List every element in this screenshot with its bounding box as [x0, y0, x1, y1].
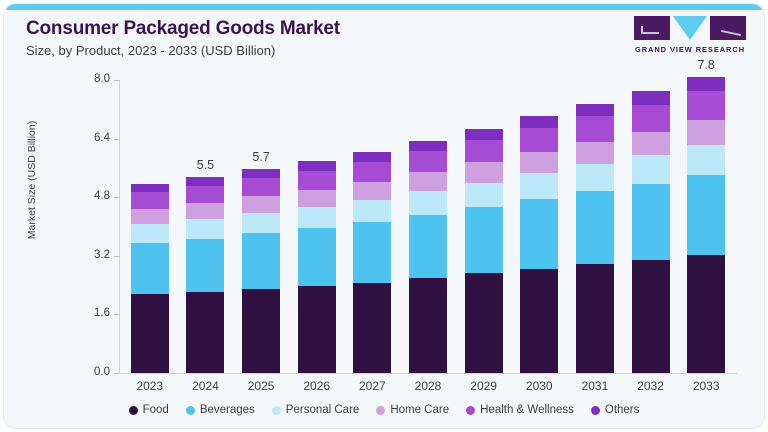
legend-item[interactable]: Personal Care [272, 404, 360, 416]
bar-column[interactable] [576, 104, 614, 374]
x-axis-tick-label: 2024 [175, 379, 235, 393]
x-axis-line [119, 373, 737, 374]
chart-card: Consumer Packaged Goods Market Size, by … [4, 4, 764, 428]
legend-item[interactable]: Food [129, 404, 169, 416]
bar-segment[interactable] [409, 151, 447, 172]
y-axis-tick-label: 3.2 [66, 249, 110, 261]
legend-swatch-icon [376, 406, 385, 415]
bar-segment[interactable] [687, 145, 725, 175]
bar-segment[interactable] [186, 177, 224, 185]
bar-segment[interactable] [409, 278, 447, 373]
bar-segment[interactable] [353, 200, 391, 222]
x-axis-tick-label: 2029 [454, 379, 514, 393]
bar-segment[interactable] [687, 120, 725, 145]
legend-label: Home Care [390, 404, 449, 416]
legend-swatch-icon [186, 406, 195, 415]
chart-legend: FoodBeveragesPersonal CareHome CareHealt… [4, 404, 764, 416]
bar-segment[interactable] [632, 132, 670, 155]
bar-segment[interactable] [465, 162, 503, 182]
bar-segment[interactable] [242, 289, 280, 373]
legend-item[interactable]: Beverages [186, 404, 255, 416]
bar-segment[interactable] [465, 183, 503, 208]
bar-segment[interactable] [242, 178, 280, 196]
y-axis-tick-label: 8.0 [66, 73, 110, 85]
bar-segment[interactable] [242, 213, 280, 234]
y-axis-tick-label: 1.6 [66, 307, 110, 319]
bar-segment[interactable] [131, 184, 169, 192]
bar-segment[interactable] [632, 91, 670, 105]
bar-segment[interactable] [687, 91, 725, 120]
bar-segment[interactable] [465, 129, 503, 140]
bar-segment[interactable] [298, 228, 336, 286]
bar-segment[interactable] [687, 255, 725, 373]
bar-segment[interactable] [298, 161, 336, 170]
x-axis-tick-label: 2028 [398, 379, 458, 393]
bar-segment[interactable] [465, 207, 503, 273]
x-axis-tick-label: 2031 [565, 379, 625, 393]
bar-segment[interactable] [632, 184, 670, 261]
bar-segment[interactable] [242, 196, 280, 213]
bar-segment[interactable] [131, 294, 169, 373]
bar-segment[interactable] [186, 239, 224, 292]
bar-value-label: 7.8 [676, 58, 736, 72]
legend-swatch-icon [129, 406, 138, 415]
bar-segment[interactable] [186, 292, 224, 373]
bar-segment[interactable] [632, 155, 670, 184]
x-axis-tick-label: 2030 [509, 379, 569, 393]
legend-item[interactable]: Health & Wellness [466, 404, 574, 416]
bar-segment[interactable] [131, 209, 169, 224]
bar-column[interactable] [520, 116, 558, 373]
bar-value-label: 5.5 [175, 158, 235, 172]
bar-segment[interactable] [520, 128, 558, 152]
bar-segment[interactable] [409, 141, 447, 151]
x-axis-tick-label: 2033 [676, 379, 736, 393]
legend-swatch-icon [591, 406, 600, 415]
bar-segment[interactable] [520, 173, 558, 199]
bar-segment[interactable] [242, 233, 280, 288]
bar-segment[interactable] [353, 222, 391, 282]
bar-segment[interactable] [576, 116, 614, 142]
legend-label: Beverages [200, 404, 255, 416]
y-axis-tick-label: 6.4 [66, 132, 110, 144]
bar-series-group [122, 80, 734, 373]
bar-segment[interactable] [353, 152, 391, 162]
legend-label: Food [143, 404, 169, 416]
bar-segment[interactable] [186, 219, 224, 239]
bar-segment[interactable] [687, 175, 725, 255]
bar-segment[interactable] [520, 152, 558, 173]
bar-segment[interactable] [576, 264, 614, 373]
bar-segment[interactable] [298, 171, 336, 190]
bar-segment[interactable] [298, 286, 336, 373]
bar-segment[interactable] [186, 186, 224, 203]
bar-segment[interactable] [353, 162, 391, 182]
bar-column[interactable] [298, 161, 336, 373]
y-axis-label: Market Size (USD Billion) [26, 60, 38, 300]
bar-column[interactable] [465, 129, 503, 373]
bar-segment[interactable] [632, 105, 670, 132]
legend-label: Personal Care [286, 404, 360, 416]
bar-column[interactable] [409, 141, 447, 373]
legend-item[interactable]: Others [591, 404, 640, 416]
chart-plot-area: Market Size (USD Billion) 0.01.63.24.86.… [4, 4, 764, 428]
bar-segment[interactable] [186, 203, 224, 219]
bar-segment[interactable] [131, 192, 169, 208]
legend-swatch-icon [466, 406, 475, 415]
bar-segment[interactable] [520, 116, 558, 128]
y-axis-tick-label: 0.0 [66, 366, 110, 378]
bar-segment[interactable] [465, 273, 503, 373]
x-axis-tick-label: 2027 [342, 379, 402, 393]
bar-segment[interactable] [298, 207, 336, 228]
bar-segment[interactable] [465, 140, 503, 163]
bar-segment[interactable] [576, 142, 614, 164]
bar-column[interactable] [186, 177, 224, 373]
bar-segment[interactable] [353, 182, 391, 200]
bar-segment[interactable] [576, 164, 614, 191]
bar-segment[interactable] [520, 269, 558, 373]
bar-segment[interactable] [576, 104, 614, 116]
bar-column[interactable] [353, 152, 391, 373]
bar-column[interactable] [131, 184, 169, 373]
bar-segment[interactable] [242, 169, 280, 178]
bar-segment[interactable] [409, 215, 447, 278]
bar-column[interactable] [632, 91, 670, 373]
bar-segment[interactable] [131, 224, 169, 243]
legend-label: Health & Wellness [480, 404, 574, 416]
bar-segment[interactable] [576, 191, 614, 264]
y-axis-line [119, 80, 120, 373]
bar-segment[interactable] [687, 77, 725, 92]
legend-label: Others [605, 404, 640, 416]
legend-swatch-icon [272, 406, 281, 415]
bar-segment[interactable] [409, 191, 447, 214]
x-axis-tick-label: 2026 [287, 379, 347, 393]
bar-segment[interactable] [520, 199, 558, 269]
y-axis-tick-label: 4.8 [66, 190, 110, 202]
bar-segment[interactable] [632, 260, 670, 373]
x-axis-tick-label: 2023 [120, 379, 180, 393]
bar-segment[interactable] [131, 243, 169, 294]
x-axis-tick-label: 2032 [621, 379, 681, 393]
bar-value-label: 5.7 [231, 150, 291, 164]
bar-column[interactable] [242, 169, 280, 373]
bar-column[interactable] [687, 77, 725, 373]
bar-segment[interactable] [409, 172, 447, 191]
bar-segment[interactable] [353, 283, 391, 373]
x-axis-tick-label: 2025 [231, 379, 291, 393]
legend-item[interactable]: Home Care [376, 404, 449, 416]
bar-segment[interactable] [298, 190, 336, 208]
